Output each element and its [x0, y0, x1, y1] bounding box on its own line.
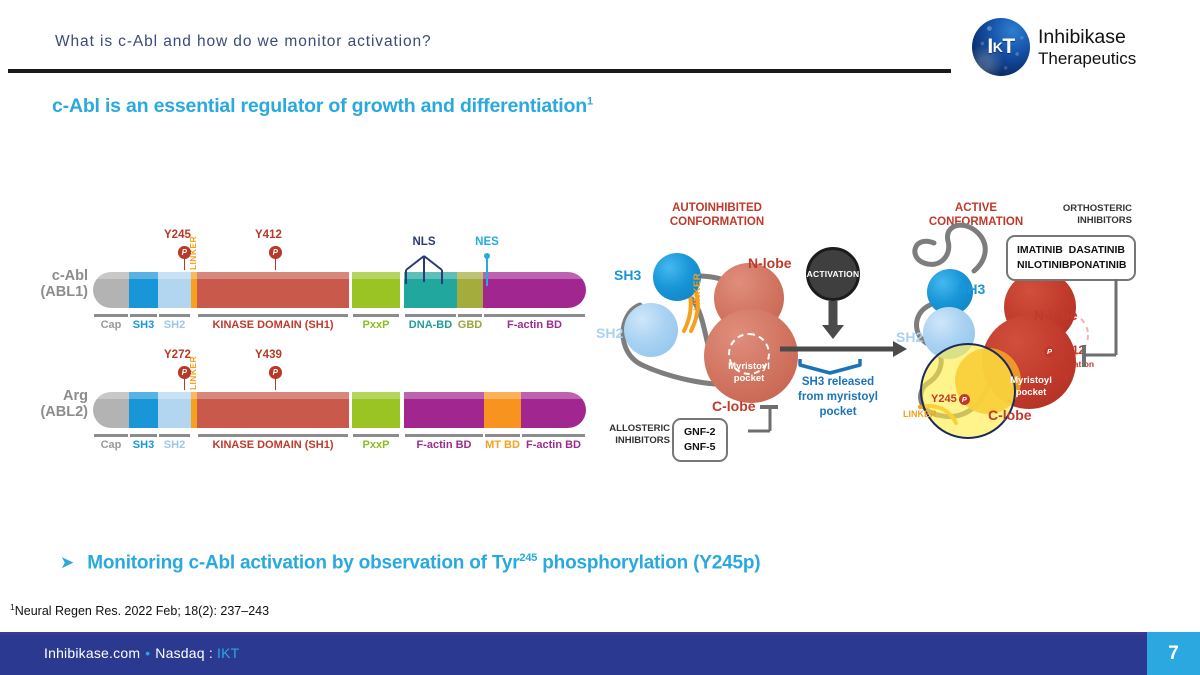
domain-segment-f-actin-bd — [521, 392, 586, 428]
localization-signal-nes: NES — [475, 236, 499, 248]
segment-highlight — [158, 392, 191, 399]
domain-segment-sh3 — [129, 392, 158, 428]
domain-bar-gene: Arg — [10, 388, 88, 404]
label-n-lobe-left: N-lobe — [748, 255, 792, 271]
domain-segment-label: F-actin BD — [507, 319, 562, 331]
logo-mark-text: IKT — [972, 18, 1030, 76]
domain-segment-label: F-actin BD — [417, 439, 472, 451]
segment-highlight — [197, 392, 349, 399]
segment-highlight — [404, 392, 484, 399]
domain-segment-label: PxxP — [363, 439, 390, 451]
segment-highlight — [93, 392, 129, 399]
domain-segment-underline — [522, 434, 585, 437]
segment-highlight — [129, 392, 158, 399]
allosteric-connector — [718, 385, 778, 445]
key-message-bullet: ➤ Monitoring c-Abl activation by observa… — [60, 552, 760, 574]
phospho-site-label: Y245 — [164, 229, 191, 241]
label-linker-left: LINKER — [692, 273, 703, 311]
domain-segment-underline — [130, 314, 157, 317]
footnote: 1Neural Regen Res. 2022 Feb; 18(2): 237–… — [10, 602, 269, 618]
label-c-lobe-right: C-lobe — [988, 407, 1032, 423]
domain-segment-underline — [159, 314, 190, 317]
domain-segment-underline — [159, 434, 190, 437]
segment-highlight — [93, 272, 129, 279]
phospho-stem — [275, 257, 277, 270]
domain-segment-label: Cap — [101, 319, 122, 331]
phospho-icon-y412: P — [1044, 346, 1055, 357]
label-linker-right: LINKER — [903, 409, 937, 419]
segment-highlight — [352, 392, 400, 399]
footer-text: Inhibikase.com•Nasdaq : IKT — [44, 645, 239, 661]
footer-bar: Inhibikase.com•Nasdaq : IKT — [0, 632, 1200, 675]
orthosteric-inhibitors-box: IMATINIB DASATINIB NILOTINIB PONATINIB — [1006, 235, 1136, 281]
domain-segment-label: GBD — [458, 319, 482, 331]
localization-signal-nls: NLS — [413, 236, 436, 248]
label-sh2-left: SH2 — [596, 325, 623, 341]
domain-segment-underline — [94, 314, 128, 317]
y245-marker: Y245 P — [931, 393, 970, 405]
domain-segment-label: KINASE DOMAIN (SH1) — [212, 319, 333, 331]
phospho-site-label: Y272 — [164, 349, 191, 361]
domain-bar-gene: c-Abl — [10, 268, 88, 284]
domain-segment-underline — [458, 314, 482, 317]
company-logo: IKT Inhibikase Therapeutics — [972, 18, 1184, 76]
bullet-arrow-icon: ➤ — [60, 552, 74, 573]
footer-exchange: Nasdaq : — [155, 645, 213, 661]
segment-highlight — [129, 272, 158, 279]
domain-segment-label: KINASE DOMAIN (SH1) — [212, 439, 333, 451]
domain-segment-kinase-domain-sh1- — [197, 272, 349, 308]
domain-segment-cap — [93, 392, 129, 428]
segment-highlight — [197, 272, 349, 279]
domain-segment-pxxp — [352, 392, 400, 428]
orthosteric-inhibitors-label: ORTHOSTERIC INHIBITORS — [990, 203, 1132, 228]
sh3-release-caption: SH3 released from myristoyl pocket — [786, 375, 890, 420]
domain-bar-name-0: c-Abl(ABL1) — [10, 268, 88, 300]
domain-segment-underline — [405, 314, 456, 317]
domain-segment-underline — [484, 314, 585, 317]
phospho-icon: P — [959, 394, 970, 405]
domain-segment-underline — [198, 314, 348, 317]
domain-segment-underline — [353, 314, 399, 317]
sh3-release-bracket — [796, 357, 876, 377]
domain-bar-alias: (ABL1) — [10, 284, 88, 300]
domain-segment-kinase-domain-sh1- — [197, 392, 349, 428]
domain-segment-sh2 — [158, 272, 191, 308]
domain-segment-label: Cap — [101, 439, 122, 451]
label-sh2-right: SH2 — [896, 329, 923, 345]
domain-bar-alias: (ABL2) — [10, 404, 88, 420]
segment-highlight — [521, 392, 586, 399]
domain-segment-label: MT BD — [485, 439, 520, 451]
footer-top-accent — [0, 632, 1200, 635]
domain-segment-underline — [485, 434, 520, 437]
orthosteric-connector — [1070, 279, 1160, 369]
domain-segment-label: DNA-BD — [409, 319, 452, 331]
footer-website[interactable]: Inhibikase.com — [44, 645, 140, 661]
localization-signal-connector-nes — [447, 252, 527, 290]
logo-company-suffix: Therapeutics — [1038, 49, 1136, 68]
footer-separator-dot: • — [145, 645, 150, 661]
domain-segment-underline — [353, 434, 399, 437]
domain-segment-sh2 — [158, 392, 191, 428]
domain-segment-label: SH2 — [164, 319, 185, 331]
domain-segment-sh3 — [129, 272, 158, 308]
phospho-stem — [275, 377, 277, 390]
domain-segment-label: SH3 — [133, 319, 154, 331]
domain-segment-underline — [405, 434, 483, 437]
phospho-stem — [184, 257, 186, 270]
domain-segment-label: PxxP — [363, 319, 390, 331]
phospho-stem — [184, 377, 186, 390]
sh2-domain-sphere — [624, 303, 678, 357]
page-number: 7 — [1147, 632, 1200, 675]
allosteric-inhibitors-label: ALLOSTERIC INHIBITORS — [606, 423, 670, 448]
label-sh3-right: SH3 — [958, 281, 985, 297]
activation-badge: ACTIVATION — [806, 247, 860, 301]
label-sh3-left: SH3 — [614, 267, 641, 283]
domain-segment-cap — [93, 272, 129, 308]
domain-segment-label: SH2 — [164, 439, 185, 451]
footer-ticker: IKT — [217, 645, 239, 661]
domain-segment-underline — [94, 434, 128, 437]
phospho-site-label: Y412 — [255, 229, 282, 241]
segment-highlight — [484, 392, 521, 399]
domain-segment-underline — [130, 434, 157, 437]
label-myristoyl-pocket-left: Myristoyl pocket — [718, 361, 780, 385]
slide: What is c-Abl and how do we monitor acti… — [0, 0, 1200, 675]
bullet-text: Monitoring c-Abl activation by observati… — [87, 552, 760, 574]
segment-highlight — [158, 272, 191, 279]
conformation-diagram: AUTOINHIBITED CONFORMATION SH3 SH2 LINKE… — [600, 185, 1200, 475]
domain-segment-f-actin-bd — [404, 392, 484, 428]
domain-segment-mt-bd — [484, 392, 521, 428]
domain-segment-underline — [198, 434, 348, 437]
logo-company-name: Inhibikase — [1038, 27, 1136, 49]
domain-segment-label: SH3 — [133, 439, 154, 451]
domain-bar-name-1: Arg(ABL2) — [10, 388, 88, 420]
domain-segment-label: F-actin BD — [526, 439, 581, 451]
phospho-site-label: Y439 — [255, 349, 282, 361]
